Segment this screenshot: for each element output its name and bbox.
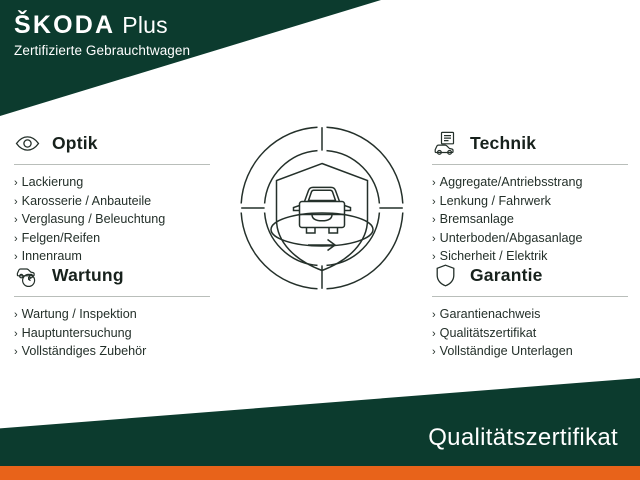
chevron-right-icon: ›	[14, 307, 18, 325]
list-item-label: Felgen/Reifen	[22, 230, 100, 248]
banner-title: Qualitätszertifikat	[428, 424, 618, 452]
section-divider	[14, 296, 210, 297]
section-wartung-list: ›Wartung / Inspektion ›Hauptuntersuchung…	[14, 306, 210, 362]
chevron-right-icon: ›	[432, 212, 436, 230]
section-divider	[14, 164, 210, 165]
chevron-right-icon: ›	[432, 231, 436, 249]
section-garantie: Garantie ›Garantienachweis ›Qualitätszer…	[432, 260, 628, 362]
section-garantie-title: Garantie	[470, 265, 543, 286]
list-item-label: Aggregate/Antriebsstrang	[440, 174, 583, 192]
car-document-icon	[432, 130, 459, 157]
list-item: ›Aggregate/Antriebsstrang	[432, 174, 628, 193]
list-item: ›Wartung / Inspektion	[14, 306, 210, 325]
section-optik-header: Optik	[14, 128, 210, 158]
chevron-right-icon: ›	[432, 326, 436, 344]
certificate-page: ŠKODA Plus Zertifizierte Gebrauchtwagen …	[0, 0, 640, 480]
section-divider	[432, 164, 628, 165]
list-item-label: Garantienachweis	[440, 306, 541, 324]
section-optik-list: ›Lackierung ›Karosserie / Anbauteile ›Ve…	[14, 174, 210, 267]
chevron-right-icon: ›	[432, 194, 436, 212]
list-item-label: Hauptuntersuchung	[22, 325, 132, 343]
list-item: ›Vollständige Unterlagen	[432, 343, 628, 362]
list-item-label: Unterboden/Abgasanlage	[440, 230, 583, 248]
brand-logo-primary: ŠKODA Plus	[14, 13, 190, 38]
section-wartung-header: Wartung	[14, 260, 210, 290]
shield-icon	[432, 262, 459, 289]
footer-green-shape	[0, 360, 640, 480]
list-item: ›Vollständiges Zubehör	[14, 343, 210, 362]
chevron-right-icon: ›	[432, 344, 436, 362]
section-wartung: Wartung ›Wartung / Inspektion ›Hauptunte…	[14, 260, 210, 362]
list-item-label: Verglasung / Beleuchtung	[22, 211, 166, 229]
section-garantie-list: ›Garantienachweis ›Qualitätszertifikat ›…	[432, 306, 628, 362]
section-technik-list: ›Aggregate/Antriebsstrang ›Lenkung / Fah…	[432, 174, 628, 267]
chevron-right-icon: ›	[14, 175, 18, 193]
list-item: ›Lenkung / Fahrwerk	[432, 193, 628, 212]
list-item: ›Unterboden/Abgasanlage	[432, 230, 628, 249]
section-technik-header: Technik	[432, 128, 628, 158]
section-optik-title: Optik	[52, 133, 98, 154]
chevron-right-icon: ›	[14, 231, 18, 249]
list-item: ›Verglasung / Beleuchtung	[14, 211, 210, 230]
chevron-right-icon: ›	[14, 326, 18, 344]
list-item: ›Qualitätszertifikat	[432, 325, 628, 344]
certified-vehicle-emblem	[236, 122, 408, 294]
car-service-icon	[14, 262, 41, 289]
chevron-right-icon: ›	[432, 307, 436, 325]
list-item-label: Lenkung / Fahrwerk	[440, 193, 551, 211]
chevron-right-icon: ›	[14, 212, 18, 230]
brand-tagline: Zertifizierte Gebrauchtwagen	[14, 43, 190, 58]
chevron-right-icon: ›	[432, 175, 436, 193]
list-item: ›Karosserie / Anbauteile	[14, 193, 210, 212]
brand-name: ŠKODA	[14, 13, 115, 38]
section-optik: Optik ›Lackierung ›Karosserie / Anbautei…	[14, 128, 210, 267]
list-item-label: Karosserie / Anbauteile	[22, 193, 152, 211]
chevron-right-icon: ›	[14, 344, 18, 362]
list-item-label: Bremsanlage	[440, 211, 514, 229]
brand-suffix: Plus	[122, 14, 168, 37]
section-garantie-header: Garantie	[432, 260, 628, 290]
section-wartung-title: Wartung	[52, 265, 124, 286]
list-item-label: Lackierung	[22, 174, 84, 192]
list-item-label: Qualitätszertifikat	[440, 325, 537, 343]
list-item: ›Hauptuntersuchung	[14, 325, 210, 344]
list-item: ›Bremsanlage	[432, 211, 628, 230]
chevron-right-icon: ›	[14, 194, 18, 212]
list-item: ›Felgen/Reifen	[14, 230, 210, 249]
section-technik: Technik ›Aggregate/Antriebsstrang ›Lenku…	[432, 128, 628, 267]
orange-accent-bar	[0, 466, 640, 480]
eye-icon	[14, 130, 41, 157]
list-item-label: Wartung / Inspektion	[22, 306, 137, 324]
section-divider	[432, 296, 628, 297]
list-item: ›Garantienachweis	[432, 306, 628, 325]
section-technik-title: Technik	[470, 133, 536, 154]
brand-logo: ŠKODA Plus Zertifizierte Gebrauchtwagen	[14, 13, 190, 58]
list-item-label: Vollständige Unterlagen	[440, 343, 573, 361]
list-item-label: Vollständiges Zubehör	[22, 343, 147, 361]
list-item: ›Lackierung	[14, 174, 210, 193]
